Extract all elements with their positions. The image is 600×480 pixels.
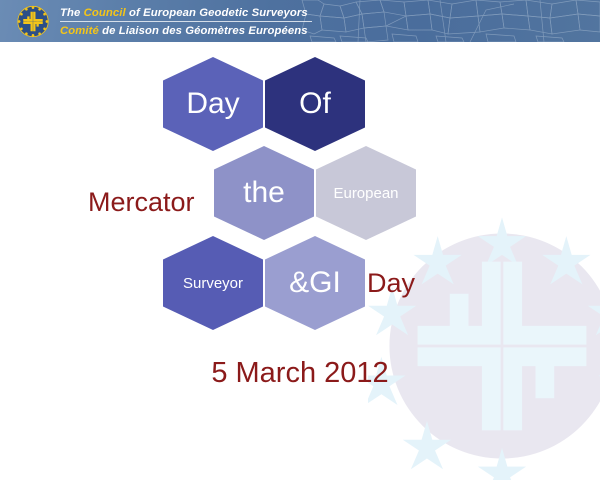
header-line2-suffix: de Liaison des Géomètres Européens <box>99 25 308 37</box>
hexagon-label-surveyor: Surveyor <box>183 276 243 291</box>
header-title-line-1: The Council of European Geodetic Surveyo… <box>60 5 480 21</box>
header-line1-prefix: The <box>60 7 84 19</box>
hexagon-label-european: European <box>333 186 398 201</box>
hexagon-label-of: Of <box>299 89 331 119</box>
hexagon-surveyor: Surveyor <box>163 236 263 330</box>
event-date-text: 5 March 2012 <box>0 357 600 390</box>
clge-emblem-icon <box>16 5 50 38</box>
mercator-text: Mercator <box>88 187 195 218</box>
clge-emblem-watermark-icon <box>368 212 600 480</box>
header-line1-suffix: of European Geodetic Surveyors <box>126 7 308 19</box>
header-title-line-2: Comité de Liaison des Géomètres Européen… <box>60 23 480 39</box>
hexagon-label-the: the <box>243 178 285 208</box>
hexagon-of: Of <box>265 57 365 151</box>
hexagon-and-gi: &GI <box>265 236 365 330</box>
header-text-block: The Council of European Geodetic Surveyo… <box>60 5 480 39</box>
header-line2-highlight: Comité <box>60 25 99 37</box>
hexagon-the: the <box>214 146 314 240</box>
header-divider <box>60 21 312 22</box>
hexagon-label-day: Day <box>186 89 239 119</box>
hexagon-label-and-gi: &GI <box>289 268 341 298</box>
hexagon-day: Day <box>163 57 263 151</box>
header-line1-highlight: Council <box>84 7 126 19</box>
header-band: The Council of European Geodetic Surveyo… <box>0 0 600 42</box>
day-text: Day <box>367 268 415 299</box>
hexagon-european: European <box>316 146 416 240</box>
